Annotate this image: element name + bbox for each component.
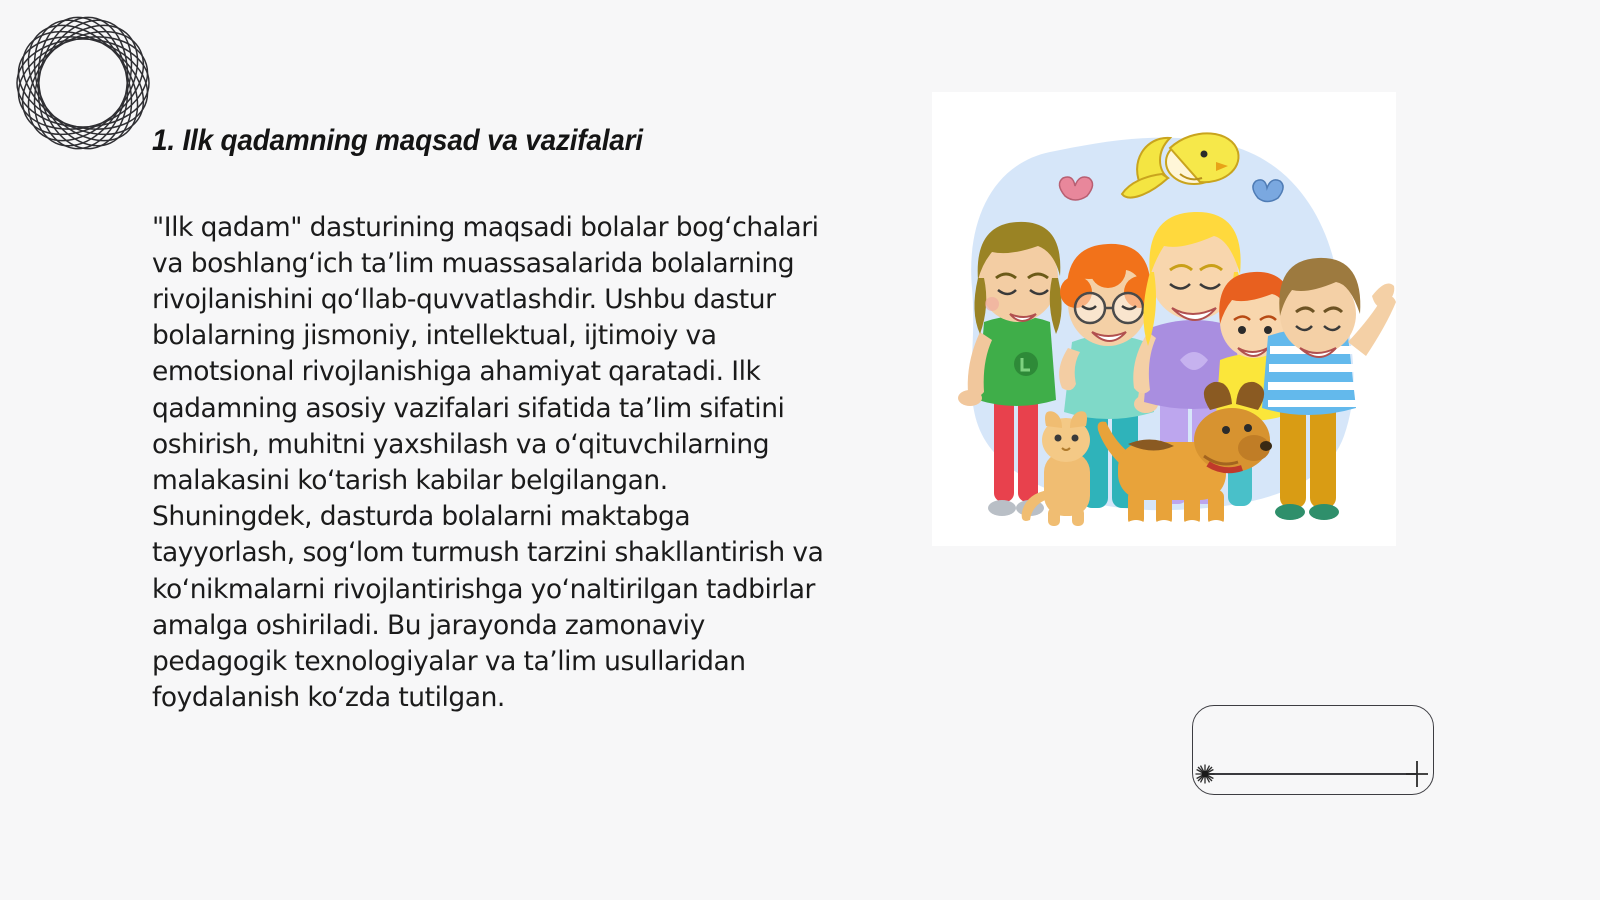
children-group-illustration [932, 92, 1396, 546]
sunburst-handle-icon[interactable] [1195, 764, 1215, 784]
rosette-spirograph-icon [6, 6, 160, 160]
slider-control[interactable] [1192, 705, 1434, 795]
page-title: 1. Ilk qadamning maqsad va vazifalari [152, 124, 859, 158]
plus-handle-icon[interactable] [1405, 760, 1429, 788]
body-paragraph: "Ilk qadam" dasturining maqsadi bolalar … [152, 210, 824, 717]
slider-track[interactable] [1207, 773, 1417, 775]
